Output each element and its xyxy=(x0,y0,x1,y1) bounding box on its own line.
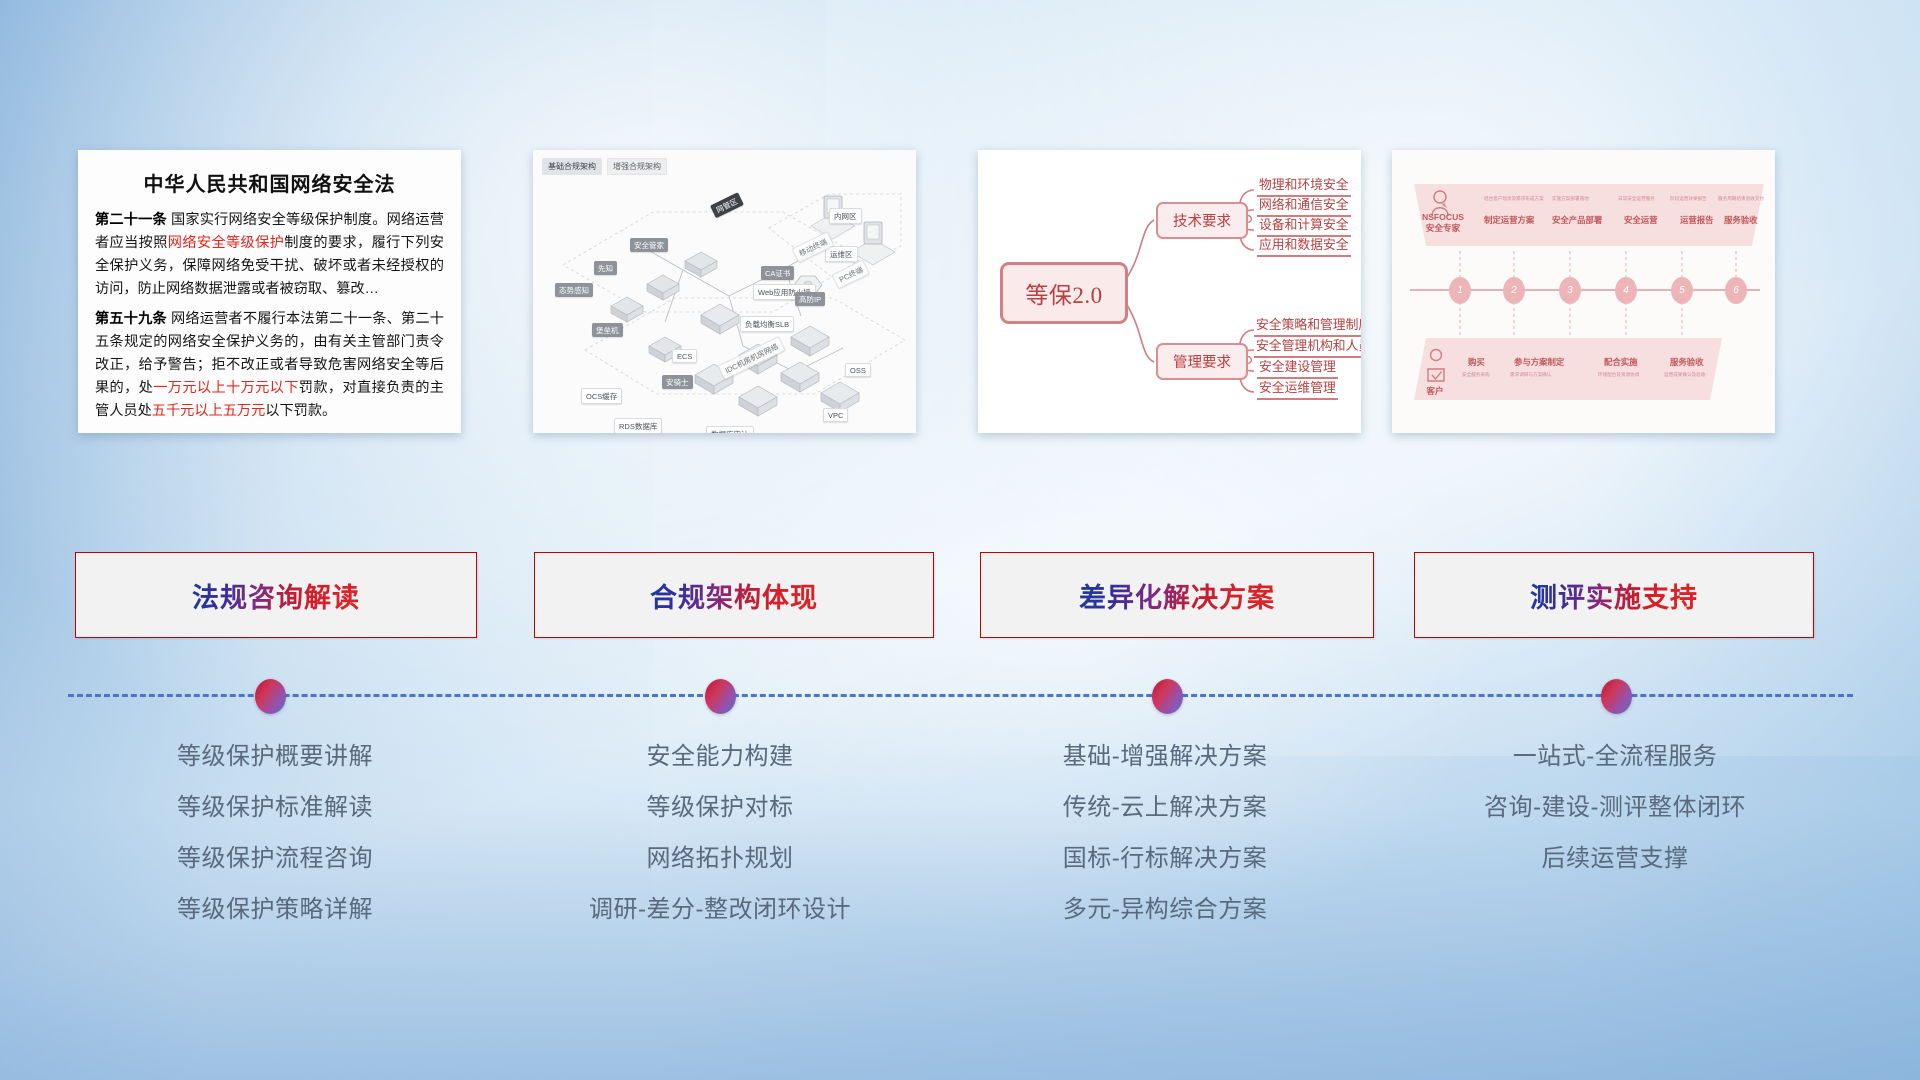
law-run: 以下罚款。 xyxy=(265,403,336,419)
law-document-page: 中华人民共和国网络安全法 第二十一条 国家实行网络安全等级保护制度。网络运营者应… xyxy=(78,150,461,433)
roadmap-node-5: 5 xyxy=(1671,277,1693,304)
column-compliance-architecture: 安全能力构建 等级保护对标 网络拓扑规划 调研-差分-整改闭环设计 xyxy=(500,745,940,949)
list-item: 后续运营支撑 xyxy=(1395,847,1835,871)
law-article-number: 第五十九条 xyxy=(95,311,167,327)
roadmap-node-4: 4 xyxy=(1615,277,1637,304)
list-item: 等级保护流程咨询 xyxy=(55,847,495,871)
mindmap-branch-technical: 技术要求 xyxy=(1156,202,1248,239)
mindmap-branch-management: 管理要求 xyxy=(1156,343,1248,380)
timeline-node-1[interactable] xyxy=(255,679,286,714)
arch-node-label: OSS xyxy=(845,363,871,377)
roadmap-brand-line1: NSFOCUS xyxy=(1422,212,1464,222)
roadmap-node-2: 2 xyxy=(1503,277,1525,304)
timeline-dashed-line xyxy=(68,694,1853,697)
list-item: 调研-差分-整改闭环设计 xyxy=(500,898,940,922)
thumbnail-row: 中华人民共和国网络安全法 第二十一条 国家实行网络安全等级保护制度。网络运营者应… xyxy=(0,150,1920,440)
roadmap-step-sub: 阶段运营效果报告 xyxy=(1670,196,1707,202)
list-item: 咨询-建设-测评整体闭环 xyxy=(1395,796,1835,820)
roadmap-node-1: 1 xyxy=(1449,277,1471,304)
roadmap-step-title: 购买 xyxy=(1468,356,1485,368)
arch-node-label: VPC xyxy=(823,408,848,422)
column-assessment-support: 一站式-全流程服务 咨询-建设-测评整体闭环 后续运营支撑 xyxy=(1395,745,1835,898)
mindmap-leaf: 应用和数据安全 xyxy=(1257,234,1351,257)
roadmap-step-sub: 服务周期结束验收交付 xyxy=(1718,196,1764,202)
card-nsfocus-roadmap[interactable]: NSFOCUS 安全专家 客户 结合客户现状及需求形成方案 制定运营方案 实施方… xyxy=(1392,150,1775,433)
mindmap-leaf: 安全运维管理 xyxy=(1257,377,1338,400)
list-item: 基础-增强解决方案 xyxy=(945,745,1385,769)
roadmap-step-title: 服务验收 xyxy=(1670,356,1704,368)
roadmap-step-sub: 日常安全运营服务 xyxy=(1618,196,1655,202)
header-label: 差异化解决方案 xyxy=(1079,576,1275,615)
roadmap-customer-label: 客户 xyxy=(1410,386,1460,397)
mindmap-root-node: 等保2.0 xyxy=(1000,262,1128,324)
list-item: 一站式-全流程服务 xyxy=(1395,745,1835,769)
header-label: 法规咨询解读 xyxy=(192,576,360,615)
mindmap-leaf: 安全建设管理 xyxy=(1257,356,1338,379)
header-box-compliance-architecture[interactable]: 合规架构体现 xyxy=(534,552,934,638)
list-item: 等级保护标准解读 xyxy=(55,796,495,820)
roadmap-step-title: 参与方案制定 xyxy=(1514,356,1564,368)
header-box-assessment-support[interactable]: 测评实施支持 xyxy=(1414,552,1814,638)
mindmap-diagram: 等保2.0 技术要求 管理要求 物理和环境安全 网络和通信安全 设备和计算安全 … xyxy=(978,150,1361,433)
header-label: 合规架构体现 xyxy=(650,576,818,615)
roadmap-step-title: 安全产品部署 xyxy=(1552,214,1602,226)
arch-node-label: 数据库审计 xyxy=(706,426,754,433)
list-item: 国标-行标解决方案 xyxy=(945,847,1385,871)
roadmap-step-title: 运营报告 xyxy=(1680,214,1714,226)
arch-node-label: 运维区 xyxy=(825,246,858,262)
list-item: 安全能力构建 xyxy=(500,745,940,769)
roadmap-node-3: 3 xyxy=(1559,277,1581,304)
law-title: 中华人民共和国网络安全法 xyxy=(95,168,444,197)
slide-stage: 中华人民共和国网络安全法 第二十一条 国家实行网络安全等级保护制度。网络运营者应… xyxy=(0,0,1920,1080)
roadmap-brand: NSFOCUS 安全专家 xyxy=(1412,212,1474,233)
arch-node-label: 安全管家 xyxy=(630,238,668,252)
column-regulation-consulting: 等级保护概要讲解 等级保护标准解读 等级保护流程咨询 等级保护策略详解 xyxy=(55,745,495,949)
timeline-node-2[interactable] xyxy=(705,679,736,714)
roadmap-step-sub: 安全服务采购 xyxy=(1462,372,1490,378)
arch-node-label: ECS xyxy=(672,349,697,363)
law-highlight: 五千元以上五万元 xyxy=(152,403,266,419)
header-box-regulation-consulting[interactable]: 法规咨询解读 xyxy=(75,552,477,638)
arch-node-label: 内网区 xyxy=(829,208,862,224)
arch-node-label: OCS缓存 xyxy=(581,388,622,404)
roadmap-step-sub: 环境配合及资源协调 xyxy=(1598,372,1639,378)
list-item: 等级保护概要讲解 xyxy=(55,745,495,769)
header-label: 测评实施支持 xyxy=(1530,576,1698,615)
timeline-node-3[interactable] xyxy=(1152,679,1183,714)
column-differentiated-solution: 基础-增强解决方案 传统-云上解决方案 国标-行标解决方案 多元-异构综合方案 xyxy=(945,745,1385,949)
roadmap-step-title: 安全运营 xyxy=(1624,214,1658,226)
list-item: 等级保护策略详解 xyxy=(55,898,495,922)
card-mindmap-dengbao[interactable]: 等保2.0 技术要求 管理要求 物理和环境安全 网络和通信安全 设备和计算安全 … xyxy=(978,150,1361,433)
law-paragraph-59: 第五十九条 网络运营者不履行本法第二十一条、第二十五条规定的网络安全保护义务的，… xyxy=(95,308,444,423)
timeline-node-4[interactable] xyxy=(1601,679,1632,714)
card-law-document[interactable]: 中华人民共和国网络安全法 第二十一条 国家实行网络安全等级保护制度。网络运营者应… xyxy=(78,150,461,433)
law-paragraph-21: 第二十一条 国家实行网络安全等级保护制度。网络运营者应当按照网络安全等级保护制度… xyxy=(95,209,444,301)
roadmap-brand-line2: 安全专家 xyxy=(1426,223,1460,233)
arch-node-label: 负载均衡SLB xyxy=(740,316,794,332)
arch-node-label: 态势感知 xyxy=(555,283,593,297)
arch-node-label: CA证书 xyxy=(761,266,794,280)
arch-node-label: 堡垒机 xyxy=(592,323,623,337)
card-compliance-architecture[interactable]: 基础合规架构 增强合规架构 xyxy=(533,150,916,433)
law-highlight: 网络安全等级保护 xyxy=(168,235,284,251)
roadmap-step-title: 配合实施 xyxy=(1604,356,1638,368)
law-highlight: 一万元以上十万元以下 xyxy=(153,380,299,396)
list-item: 传统-云上解决方案 xyxy=(945,796,1385,820)
list-item: 等级保护对标 xyxy=(500,796,940,820)
mindmap-leaf: 安全管理机构和人员 xyxy=(1254,335,1361,358)
roadmap-node-6: 6 xyxy=(1725,277,1747,304)
arch-node-label: RDS数据库 xyxy=(614,418,662,433)
roadmap-step-title: 服务验收 xyxy=(1724,214,1758,226)
roadmap-step-sub: 实施方案部署落地 xyxy=(1552,196,1589,202)
roadmap-step-sub: 需求调研与方案确认 xyxy=(1510,372,1551,378)
list-item: 多元-异构综合方案 xyxy=(945,898,1385,922)
header-box-differentiated-solution[interactable]: 差异化解决方案 xyxy=(980,552,1374,638)
law-article-number: 第二十一条 xyxy=(95,212,167,228)
architecture-diagram: 基础合规架构 增强合规架构 xyxy=(533,150,916,433)
mindmap-leaf: 安全策略和管理制度 xyxy=(1254,314,1361,337)
arch-node-label: 高防IP xyxy=(795,292,825,306)
arch-node-label: 先知 xyxy=(594,261,617,275)
roadmap-diagram: NSFOCUS 安全专家 客户 结合客户现状及需求形成方案 制定运营方案 实施方… xyxy=(1392,150,1775,433)
list-item: 网络拓扑规划 xyxy=(500,847,940,871)
roadmap-step-sub: 结合客户现状及需求形成方案 xyxy=(1484,196,1544,202)
roadmap-step-title: 制定运营方案 xyxy=(1484,214,1534,226)
arch-node-label: 安骑士 xyxy=(662,375,693,389)
roadmap-step-sub: 运营成果确认及验收 xyxy=(1664,372,1705,378)
